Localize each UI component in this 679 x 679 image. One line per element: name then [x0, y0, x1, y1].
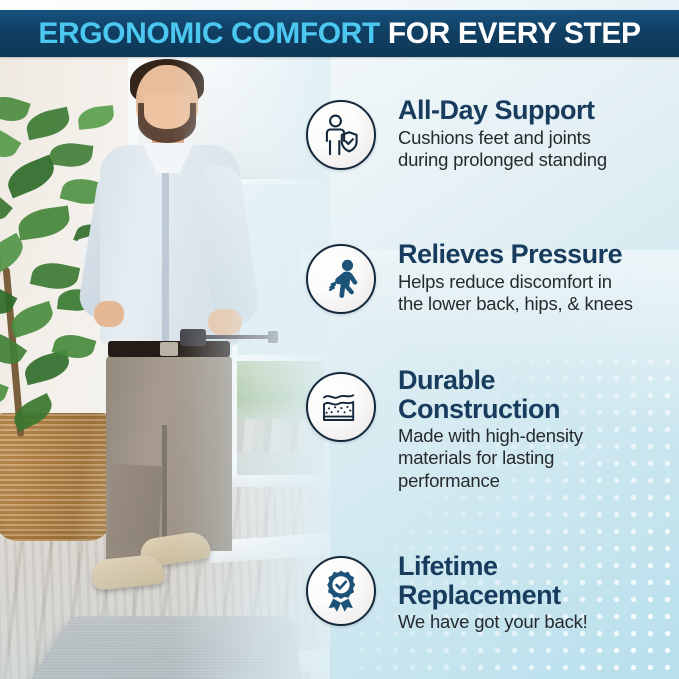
feature-item-lifetime-replacement: Lifetime Replacement We have got your ba… — [298, 552, 588, 633]
product-lifestyle-photo — [0, 57, 330, 679]
feature-description: Cushions feet and joints during prolonge… — [398, 127, 607, 171]
feature-text-block: Durable Construction Made with high-dens… — [398, 366, 583, 492]
feature-item-all-day-support: All-Day Support Cushions feet and joints… — [298, 96, 607, 171]
photo-person-hand — [94, 301, 124, 327]
header-title-plain — [380, 17, 388, 50]
feature-text-block: Relieves Pressure Helps reduce discomfor… — [398, 240, 633, 315]
feature-title: Relieves Pressure — [398, 240, 633, 269]
feature-list: All-Day Support Cushions feet and joints… — [298, 62, 679, 674]
header-title-plain-text: FOR EVERY STEP — [388, 17, 641, 50]
feature-title: Lifetime Replacement — [398, 552, 588, 609]
feature-description: We have got your back! — [398, 611, 588, 633]
foam-layers-icon — [306, 372, 376, 442]
photo-person-leg-seam — [162, 425, 167, 551]
photo-clamp-knob — [268, 331, 278, 343]
feature-title: Durable Construction — [398, 366, 583, 423]
photo-clamp-bar — [204, 335, 276, 339]
back-pain-person-icon — [306, 244, 376, 314]
photo-clamp-block — [180, 329, 206, 346]
photo-person-face — [144, 95, 190, 129]
feature-description: Made with high-density materials for las… — [398, 425, 583, 492]
feature-text-block: Lifetime Replacement We have got your ba… — [398, 552, 588, 633]
photo-desk-clamp — [180, 329, 276, 345]
photo-belt-buckle — [160, 342, 178, 356]
feature-item-relieves-pressure: Relieves Pressure Helps reduce discomfor… — [298, 240, 633, 315]
header-banner: ERGONOMIC COMFORT FOR EVERY STEP — [0, 10, 679, 57]
person-shield-icon — [306, 100, 376, 170]
award-badge-icon — [306, 556, 376, 626]
header-title: ERGONOMIC COMFORT FOR EVERY STEP — [38, 17, 640, 51]
photo-shirt-placket — [162, 165, 169, 341]
feature-text-block: All-Day Support Cushions feet and joints… — [398, 96, 607, 171]
feature-item-durable-construction: Durable Construction Made with high-dens… — [298, 368, 583, 492]
photo-person — [78, 65, 256, 535]
header-title-highlight: ERGONOMIC COMFORT — [38, 17, 380, 50]
feature-title: All-Day Support — [398, 96, 607, 125]
feature-description: Helps reduce discomfort in the lower bac… — [398, 271, 633, 315]
infographic-canvas: ERGONOMIC COMFORT FOR EVERY STEP All-Day… — [0, 0, 679, 679]
